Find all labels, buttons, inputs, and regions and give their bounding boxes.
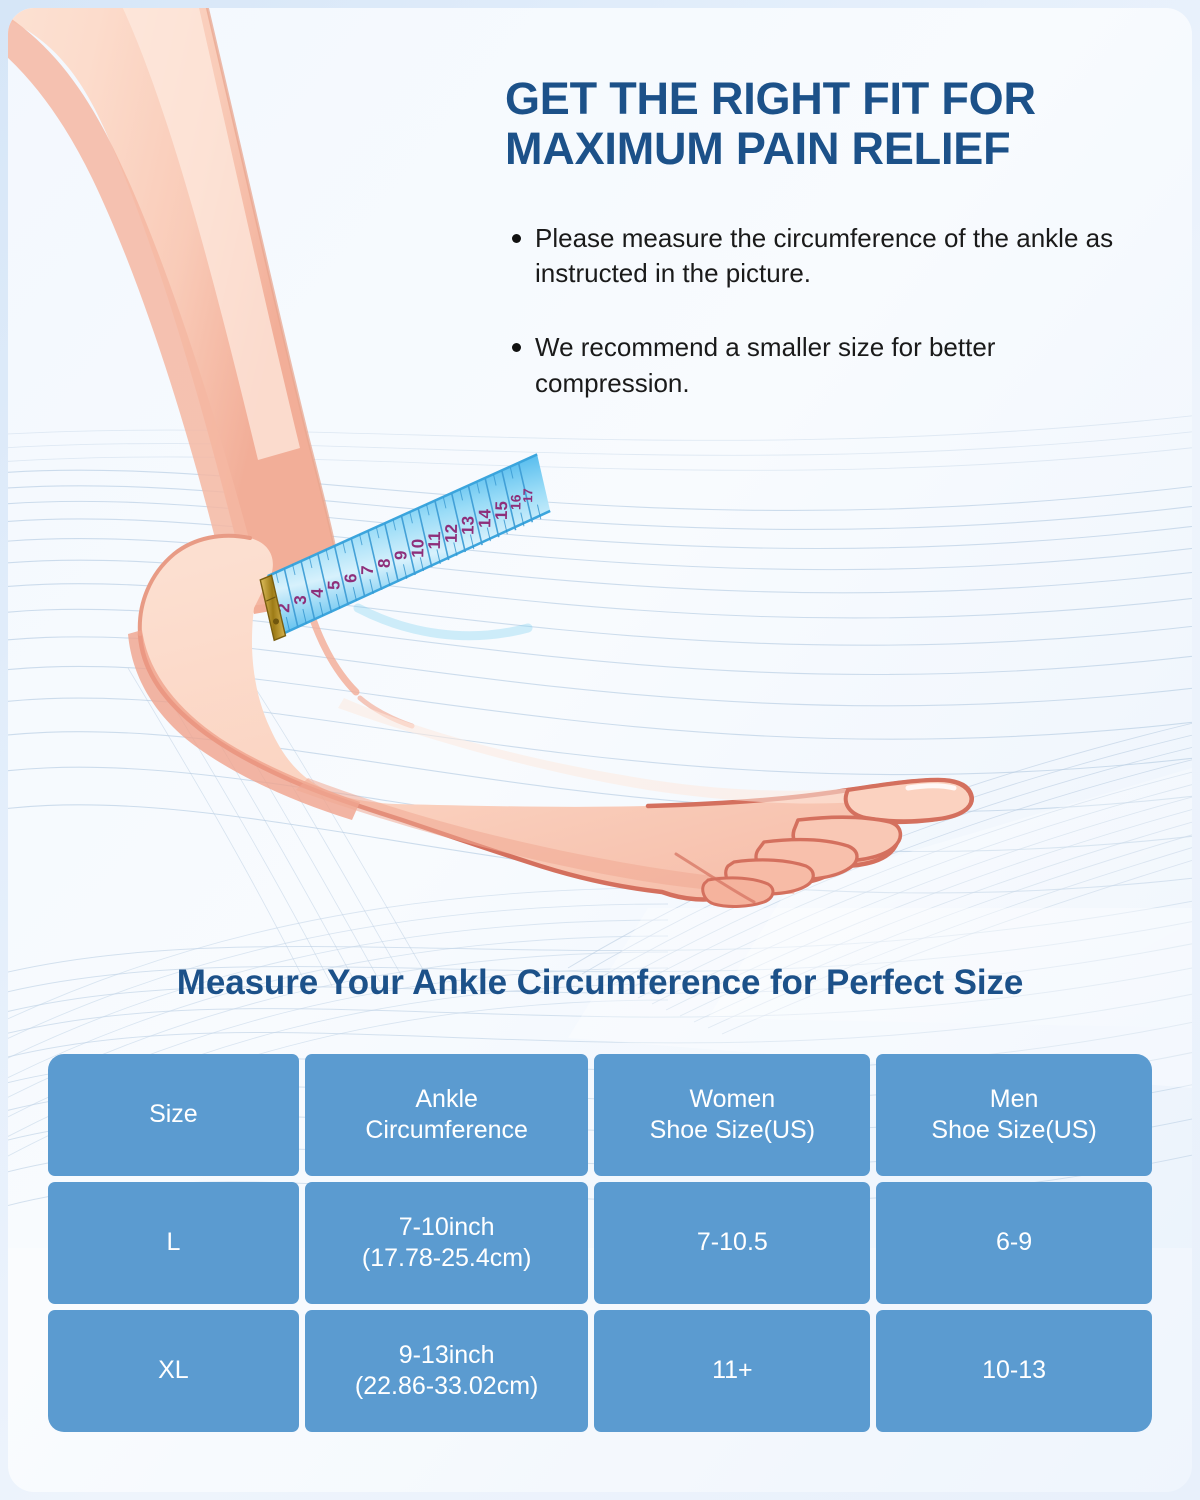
header-cell-ankle-circumference: Ankle Circumference xyxy=(305,1054,589,1176)
header-size-line1: Size xyxy=(149,1100,198,1128)
value-men-l: 6-9 xyxy=(996,1228,1032,1256)
content-card: 2 3 4 5 6 7 8 9 10 11 12 13 14 15 16 17 xyxy=(8,8,1192,1492)
cell-circumference-xl: 9-13inch (22.86-33.02cm) xyxy=(305,1310,589,1432)
cell-women-xl: 11+ xyxy=(594,1310,870,1432)
section-heading: Measure Your Ankle Circumference for Per… xyxy=(8,963,1192,1003)
instruction-item-1: Please measure the circumference of the … xyxy=(505,221,1115,292)
header-circ-line1: Ankle xyxy=(415,1085,478,1113)
value-circ-l-cm: (17.78-25.4cm) xyxy=(305,1243,589,1275)
value-men-xl: 10-13 xyxy=(982,1356,1046,1384)
header-circ-line2: Circumference xyxy=(305,1115,589,1147)
cell-women-l: 7-10.5 xyxy=(594,1182,870,1304)
cell-men-l: 6-9 xyxy=(876,1182,1152,1304)
headline-block: GET THE RIGHT FIT FOR MAXIMUM PAIN RELIE… xyxy=(505,74,1165,439)
header-cell-men-shoe-size: Men Shoe Size(US) xyxy=(876,1054,1152,1176)
value-size-l: L xyxy=(166,1228,180,1256)
svg-text:17: 17 xyxy=(520,488,535,503)
header-cell-size: Size xyxy=(48,1054,299,1176)
bullet-dot-icon xyxy=(512,343,521,352)
header-women-line1: Women xyxy=(690,1085,776,1113)
header-women-line2: Shoe Size(US) xyxy=(594,1115,870,1147)
value-circ-xl-inch: 9-13inch xyxy=(399,1341,495,1369)
table-row: L 7-10inch (17.78-25.4cm) 7-10.5 6-9 xyxy=(48,1182,1152,1304)
value-size-xl: XL xyxy=(158,1356,189,1384)
size-chart-table: Size Ankle Circumference Women Shoe Size… xyxy=(42,1048,1158,1438)
cell-men-xl: 10-13 xyxy=(876,1310,1152,1432)
header-men-line2: Shoe Size(US) xyxy=(876,1115,1152,1147)
cell-size-l: L xyxy=(48,1182,299,1304)
sizing-guide-page: 2 3 4 5 6 7 8 9 10 11 12 13 14 15 16 17 xyxy=(0,0,1200,1500)
value-circ-xl-cm: (22.86-33.02cm) xyxy=(305,1371,589,1403)
table-row: XL 9-13inch (22.86-33.02cm) 11+ 10-13 xyxy=(48,1310,1152,1432)
value-women-l: 7-10.5 xyxy=(697,1228,768,1256)
instruction-text-2: We recommend a smaller size for better c… xyxy=(535,332,995,398)
instruction-item-2: We recommend a smaller size for better c… xyxy=(505,330,1115,401)
value-women-xl: 11+ xyxy=(712,1356,753,1384)
cell-circumference-l: 7-10inch (17.78-25.4cm) xyxy=(305,1182,589,1304)
instruction-text-1: Please measure the circumference of the … xyxy=(535,223,1113,289)
cell-size-xl: XL xyxy=(48,1310,299,1432)
instruction-list: Please measure the circumference of the … xyxy=(505,221,1165,401)
header-cell-women-shoe-size: Women Shoe Size(US) xyxy=(594,1054,870,1176)
page-title: GET THE RIGHT FIT FOR MAXIMUM PAIN RELIE… xyxy=(505,74,1165,175)
bullet-dot-icon xyxy=(512,234,521,243)
header-men-line1: Men xyxy=(990,1085,1039,1113)
value-circ-l-inch: 7-10inch xyxy=(399,1213,495,1241)
table-header-row: Size Ankle Circumference Women Shoe Size… xyxy=(48,1054,1152,1176)
